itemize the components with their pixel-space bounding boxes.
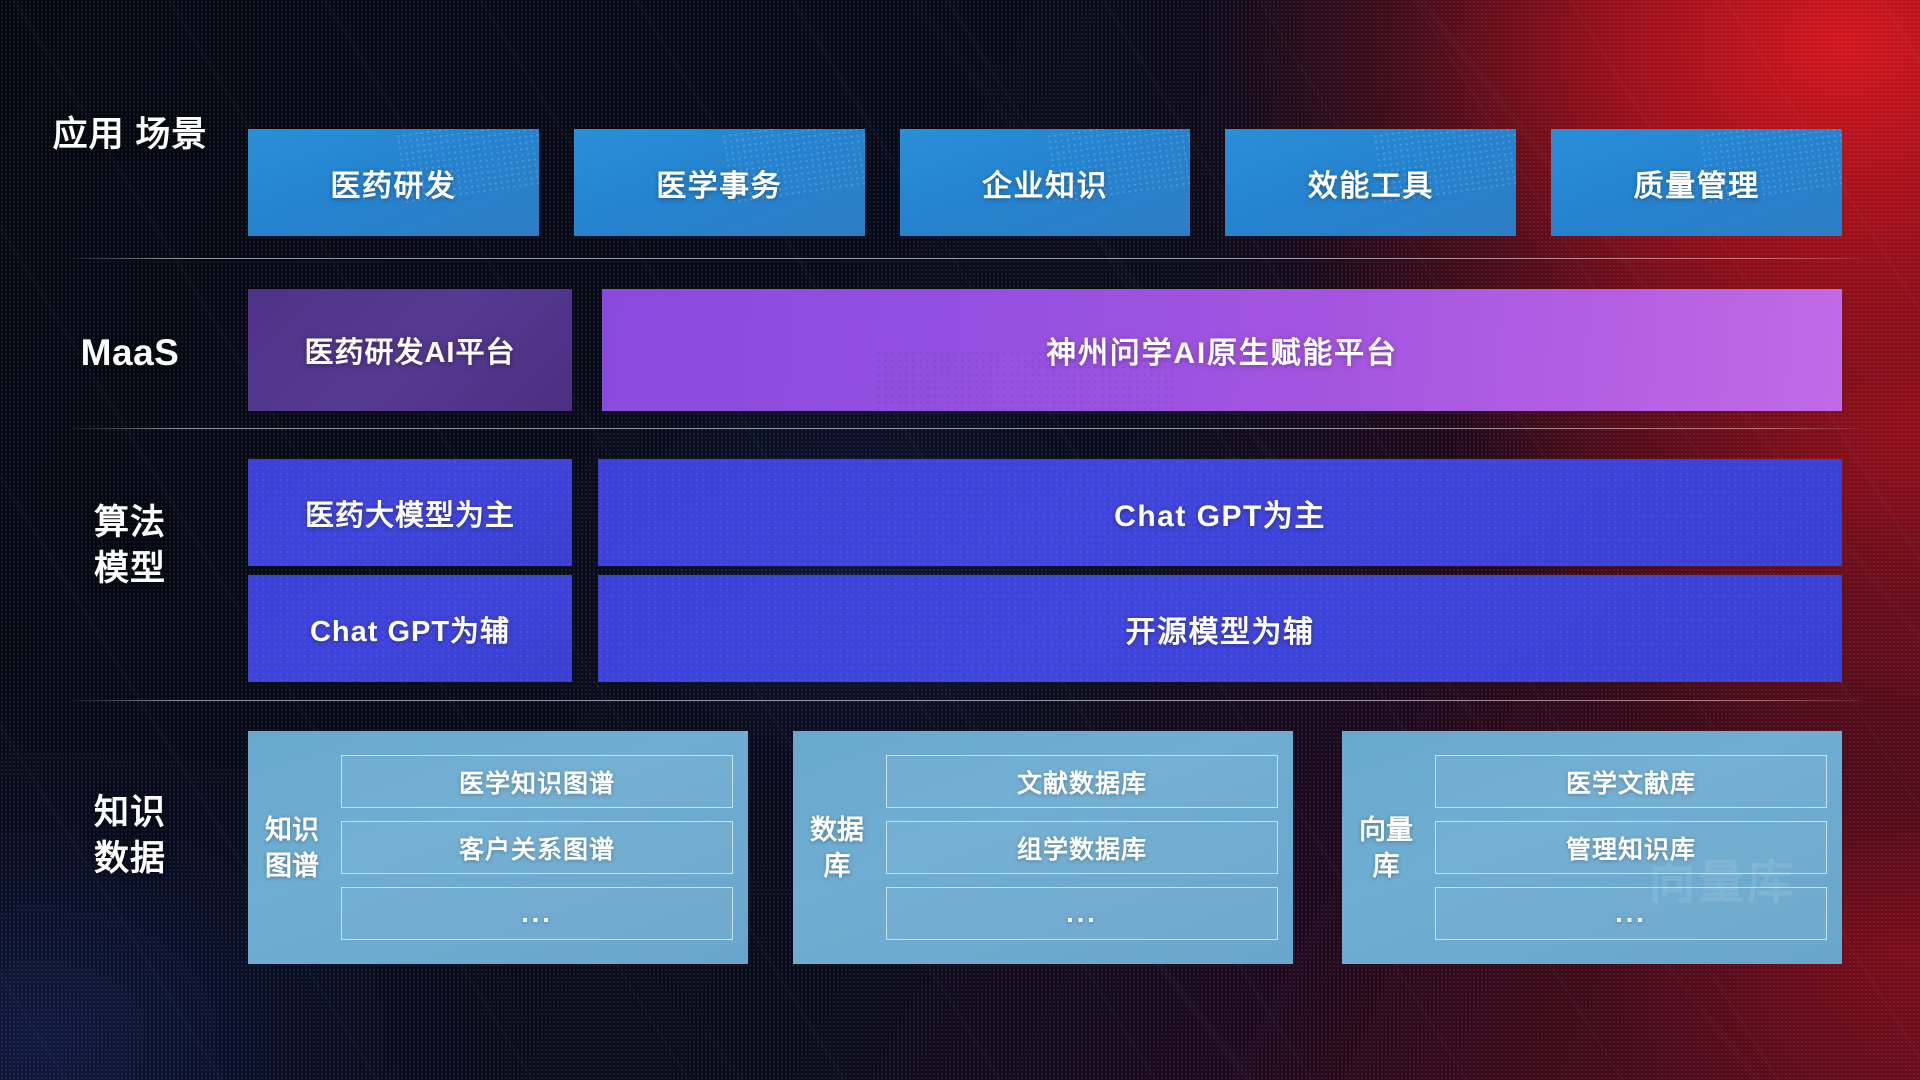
diagram-content: 应用 场景 医药研发 医学事务 企业知识 效能工具 质量管理 MaaS 医药研发… [0,0,1920,1080]
knowledge-group-graph-title: 知识图谱 [261,812,323,884]
slide-canvas: 应用 场景 医药研发 医学事务 企业知识 效能工具 质量管理 MaaS 医药研发… [0,0,1920,1080]
maas-row: 医药研发AI平台 神州问学AI原生赋能平台 [248,289,1842,411]
knowledge-group-database-items: 文献数据库 组学数据库 ... [868,755,1278,940]
algorithm-card-row1-left[interactable]: Chat GPT为辅 [248,575,572,682]
knowledge-group-vectorstore[interactable]: 向量库 医学文献库 管理知识库 ... 向量库 [1342,731,1842,964]
application-scenarios-row: 医药研发 医学事务 企业知识 效能工具 质量管理 [248,129,1842,236]
row-label-application-scenarios: 应用 场景 [40,112,220,158]
app-card-4[interactable]: 质量管理 [1551,129,1842,236]
knowledge-group-graph-items: 医学知识图谱 客户关系图谱 ... [323,755,733,940]
knowledge-group-vectorstore-items: 医学文献库 管理知识库 ... [1417,755,1827,940]
app-card-1[interactable]: 医学事务 [574,129,865,236]
app-card-2-label: 企业知识 [982,161,1108,205]
algorithm-card-row0-left[interactable]: 医药大模型为主 [248,459,572,566]
app-card-1-label: 医学事务 [656,161,782,205]
knowledge-item-more[interactable]: ... [1435,887,1827,940]
row-label-algorithm-model: 算法 模型 [40,500,220,592]
algorithm-card-row0-right[interactable]: Chat GPT为主 [598,459,1842,566]
algorithm-row0-right-label: Chat GPT为主 [1114,491,1326,535]
row-label-knowledge-data: 知识 数据 [40,790,220,882]
algorithm-card-row1-right[interactable]: 开源模型为辅 [598,575,1842,682]
knowledge-group-vectorstore-title: 向量库 [1355,812,1417,884]
app-card-4-label: 质量管理 [1634,161,1760,205]
knowledge-item[interactable]: 文献数据库 [886,755,1278,808]
divider-application-maas [72,258,1862,259]
row-label-maas: MaaS [40,330,220,376]
knowledge-group-database-title: 数据库 [806,812,868,884]
maas-platform-card-left[interactable]: 医药研发AI平台 [248,289,572,411]
algorithm-row0-left-label: 医药大模型为主 [305,492,515,534]
knowledge-item[interactable]: 组学数据库 [886,821,1278,874]
divider-maas-algorithm [72,428,1862,429]
divider-algorithm-knowledge [72,700,1862,701]
maas-right-label: 神州问学AI原生赋能平台 [1046,328,1398,372]
knowledge-item[interactable]: 管理知识库 [1435,821,1827,874]
knowledge-item-more[interactable]: ... [341,887,733,940]
knowledge-item[interactable]: 客户关系图谱 [341,821,733,874]
knowledge-group-graph[interactable]: 知识图谱 医学知识图谱 客户关系图谱 ... [248,731,748,964]
app-card-0[interactable]: 医药研发 [248,129,539,236]
algorithm-row1-right-label: 开源模型为辅 [1126,607,1315,651]
algorithm-row1-left-label: Chat GPT为辅 [310,608,510,650]
knowledge-group-database[interactable]: 数据库 文献数据库 组学数据库 ... [793,731,1293,964]
app-card-3[interactable]: 效能工具 [1225,129,1516,236]
maas-platform-card-right[interactable]: 神州问学AI原生赋能平台 [602,289,1842,411]
knowledge-item[interactable]: 医学文献库 [1435,755,1827,808]
knowledge-item[interactable]: 医学知识图谱 [341,755,733,808]
knowledge-item-more[interactable]: ... [886,887,1278,940]
app-card-3-label: 效能工具 [1308,161,1434,205]
maas-left-label: 医药研发AI平台 [304,329,515,371]
app-card-0-label: 医药研发 [330,161,456,205]
app-card-2[interactable]: 企业知识 [900,129,1191,236]
